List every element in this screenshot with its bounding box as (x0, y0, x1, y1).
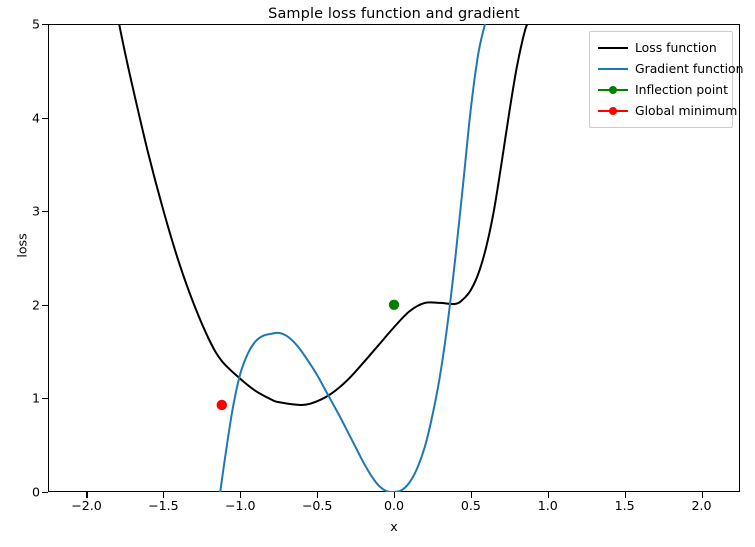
x-tick-mark (548, 492, 549, 498)
x-tick-mark (471, 492, 472, 498)
chart-legend: Loss functionGradient functionInflection… (589, 31, 733, 128)
series-line-gradient-function (220, 24, 486, 492)
y-tick-label: 5 (0, 17, 40, 32)
matplotlib-figure: Sample loss function and gradient 012345… (0, 0, 755, 547)
y-tick-mark (42, 305, 48, 306)
x-tick-label: −0.5 (282, 498, 352, 513)
y-tick-mark (42, 24, 48, 25)
series-line-loss-function (117, 24, 529, 405)
x-tick-mark (86, 492, 87, 498)
legend-label: Gradient function (635, 61, 744, 76)
legend-line-icon (598, 68, 628, 70)
marker-global-minimum (217, 400, 227, 410)
x-tick-label: −2.0 (51, 498, 121, 513)
legend-item: Inflection point (598, 79, 724, 100)
x-tick-mark (625, 492, 626, 498)
x-tick-mark (240, 492, 241, 498)
x-tick-mark (317, 492, 318, 498)
x-tick-label: 0.5 (436, 498, 506, 513)
y-tick-label: 4 (0, 110, 40, 125)
legend-line-icon (598, 47, 628, 49)
legend-label: Global minimum (635, 103, 737, 118)
x-axis-label: x (48, 519, 740, 534)
legend-swatch-icon (598, 62, 628, 76)
y-tick-mark (42, 118, 48, 119)
x-tick-mark (394, 492, 395, 498)
legend-label: Inflection point (635, 82, 728, 97)
x-tick-label: 0.0 (359, 498, 429, 513)
legend-marker-dot-icon (609, 86, 617, 94)
y-axis-label: loss (15, 206, 30, 286)
x-tick-label: 1.0 (513, 498, 583, 513)
x-tick-label: 2.0 (667, 498, 737, 513)
legend-swatch-icon (598, 104, 628, 118)
legend-item: Loss function (598, 37, 724, 58)
y-tick-label: 2 (0, 297, 40, 312)
y-tick-mark (42, 211, 48, 212)
legend-label: Loss function (635, 40, 717, 55)
y-tick-label: 1 (0, 391, 40, 406)
marker-inflection-point (389, 300, 399, 310)
legend-item: Global minimum (598, 100, 724, 121)
y-tick-label: 0 (0, 485, 40, 500)
legend-swatch-icon (598, 83, 628, 97)
x-tick-mark (163, 492, 164, 498)
x-tick-label: −1.5 (128, 498, 198, 513)
x-tick-label: −1.0 (205, 498, 275, 513)
x-tick-label: 1.5 (590, 498, 660, 513)
legend-swatch-icon (598, 41, 628, 55)
page-title: Sample loss function and gradient (48, 6, 740, 22)
x-tick-mark (702, 492, 703, 498)
legend-marker-dot-icon (609, 107, 617, 115)
legend-item: Gradient function (598, 58, 724, 79)
y-tick-mark (42, 398, 48, 399)
y-tick-mark (42, 492, 48, 493)
